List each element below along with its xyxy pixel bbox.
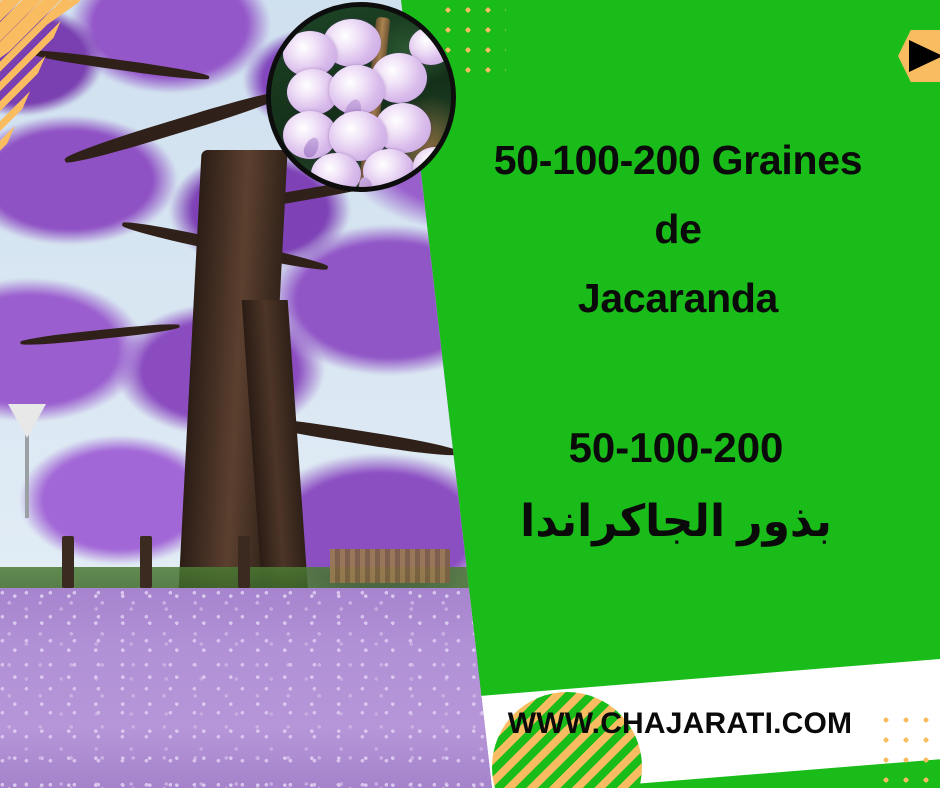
photo-fence <box>330 549 450 583</box>
photo-yield-sign <box>8 404 46 438</box>
photo-sign-pole <box>25 433 29 518</box>
headline-arabic-text: بذور الجاكراندا <box>440 496 912 547</box>
photo-post <box>62 536 74 588</box>
poster-canvas: 50-100-200 Graines de Jacaranda 50-100-2… <box>0 0 940 788</box>
headline-french-line3: Jacaranda <box>432 264 924 333</box>
headline-french-line2: de <box>432 195 924 264</box>
website-url[interactable]: WWW.CHAJARATI.COM <box>470 707 890 741</box>
play-icon[interactable] <box>909 40 940 72</box>
photo-petal-ground <box>0 588 500 788</box>
headline-french: 50-100-200 Graines de Jacaranda <box>432 126 924 333</box>
headline-french-line1: 50-100-200 Graines <box>432 126 924 195</box>
flower-bloom <box>311 153 361 192</box>
photo-post <box>140 536 152 588</box>
photo-post <box>238 536 250 588</box>
headline-arabic-quantities: 50-100-200 <box>440 424 912 472</box>
jacaranda-flower-closeup <box>266 2 456 192</box>
